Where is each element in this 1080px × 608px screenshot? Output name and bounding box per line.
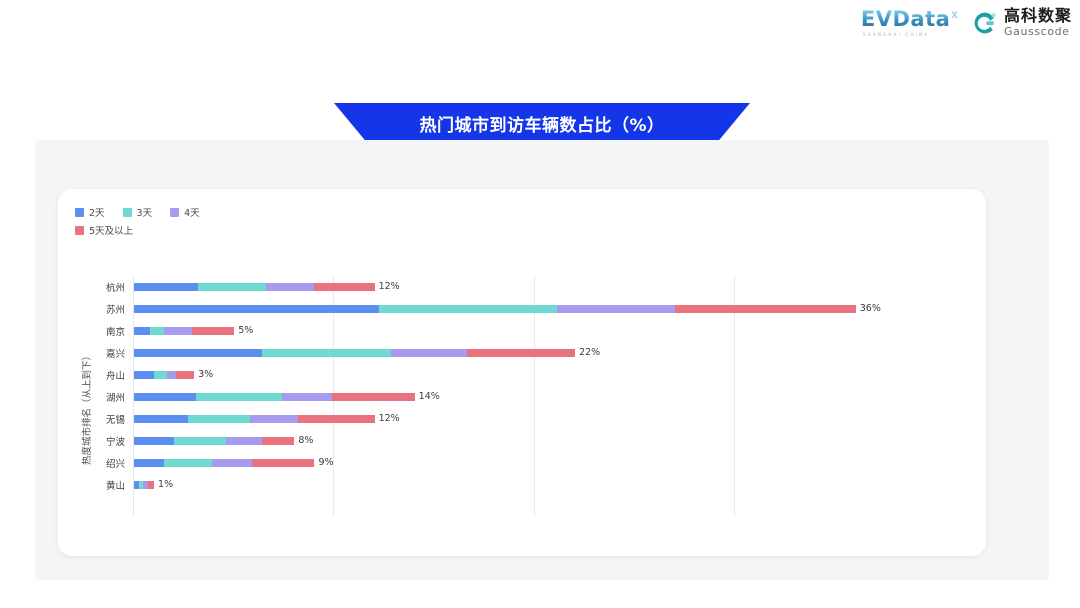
bar-segment[interactable]: [154, 371, 167, 379]
bar-value-label: 22%: [579, 348, 600, 358]
bar-segment[interactable]: [176, 371, 194, 379]
g-circle-icon: [972, 10, 998, 36]
legend-swatch-icon: [75, 208, 84, 217]
stacked-bar[interactable]: [134, 283, 375, 291]
bar-segment[interactable]: [252, 459, 314, 467]
bar-segment[interactable]: [134, 393, 196, 401]
bar-segment[interactable]: [164, 459, 212, 467]
category-label: 嘉兴: [77, 346, 125, 360]
bar-segment[interactable]: [379, 305, 557, 313]
gausscode-logo: 高科数聚 Gausscode: [972, 8, 1072, 37]
bar-segment[interactable]: [262, 349, 390, 357]
evdata-logo-text: EVData: [861, 9, 950, 30]
bar-value-label: 36%: [860, 304, 881, 314]
bar-row[interactable]: 无锡12%: [133, 408, 955, 430]
legend-item[interactable]: 3天: [123, 205, 153, 219]
stacked-bar[interactable]: [134, 481, 154, 489]
plot-area: 杭州12%苏州36%南京5%嘉兴22%舟山3%湖州14%无锡12%宁波8%绍兴9…: [133, 276, 955, 516]
chart-legend: 2天3天4天5天及以上: [75, 205, 405, 241]
bar-row[interactable]: 嘉兴22%: [133, 342, 955, 364]
bar-segment[interactable]: [134, 415, 188, 423]
stacked-bar[interactable]: [134, 327, 234, 335]
legend-label: 5天及以上: [89, 223, 133, 237]
gausscode-logo-en: Gausscode: [1004, 26, 1072, 37]
bar-value-label: 1%: [158, 480, 173, 490]
legend-label: 4天: [184, 205, 200, 219]
legend-item[interactable]: 4天: [170, 205, 200, 219]
bar-segment[interactable]: [467, 349, 575, 357]
bar-segment[interactable]: [282, 393, 332, 401]
stacked-bar[interactable]: [134, 393, 415, 401]
category-label: 舟山: [77, 368, 125, 382]
bar-segment[interactable]: [332, 393, 414, 401]
bar-row[interactable]: 绍兴9%: [133, 452, 955, 474]
bar-segment[interactable]: [557, 305, 675, 313]
category-label: 绍兴: [77, 456, 125, 470]
bar-segment[interactable]: [150, 327, 164, 335]
bar-value-label: 14%: [419, 392, 440, 402]
bar-segment[interactable]: [226, 437, 262, 445]
category-label: 杭州: [77, 280, 125, 294]
bar-segment[interactable]: [192, 327, 234, 335]
bar-segment[interactable]: [266, 283, 314, 291]
bar-segment[interactable]: [134, 283, 198, 291]
bar-value-label: 12%: [379, 414, 400, 424]
category-label: 无锡: [77, 412, 125, 426]
bar-row[interactable]: 宁波8%: [133, 430, 955, 452]
category-label: 苏州: [77, 302, 125, 316]
legend-swatch-icon: [75, 226, 84, 235]
bar-segment[interactable]: [391, 349, 467, 357]
bar-value-label: 5%: [238, 326, 253, 336]
category-label: 湖州: [77, 390, 125, 404]
evdata-logo-subtitle: SHANGHAI CHINA: [863, 32, 929, 37]
bar-segment[interactable]: [196, 393, 282, 401]
stacked-bar[interactable]: [134, 437, 294, 445]
stacked-bar[interactable]: [134, 371, 194, 379]
bar-row[interactable]: 湖州14%: [133, 386, 955, 408]
bar-segment[interactable]: [134, 459, 164, 467]
title-ribbon: 热门城市到访车辆数占比（%）: [334, 103, 750, 143]
category-label: 黄山: [77, 478, 125, 492]
bar-value-label: 9%: [318, 458, 333, 468]
legend-label: 2天: [89, 205, 105, 219]
legend-swatch-icon: [123, 208, 132, 217]
stacked-bar[interactable]: [134, 415, 375, 423]
category-label: 南京: [77, 324, 125, 338]
bar-segment[interactable]: [134, 371, 154, 379]
y-axis-title: 热度城市排名（从上到下）: [79, 318, 93, 498]
bar-segment[interactable]: [188, 415, 250, 423]
evdata-logo: EVData x SHANGHAI CHINA: [861, 9, 958, 37]
bar-segment[interactable]: [250, 415, 298, 423]
legend-label: 3天: [137, 205, 153, 219]
bar-segment[interactable]: [134, 327, 150, 335]
page-title: 热门城市到访车辆数占比（%）: [419, 111, 664, 136]
bar-segment[interactable]: [298, 415, 374, 423]
bar-segment[interactable]: [212, 459, 252, 467]
legend-swatch-icon: [170, 208, 179, 217]
legend-item[interactable]: 2天: [75, 205, 105, 219]
stacked-bar[interactable]: [134, 349, 575, 357]
bar-rows: 杭州12%苏州36%南京5%嘉兴22%舟山3%湖州14%无锡12%宁波8%绍兴9…: [133, 276, 955, 496]
brand-logo-bar: EVData x SHANGHAI CHINA 高科数聚 Gausscode: [861, 8, 1072, 37]
stacked-bar-chart: 热度城市排名（从上到下） 杭州12%苏州36%南京5%嘉兴22%舟山3%湖州14…: [75, 276, 955, 516]
stacked-bar[interactable]: [134, 305, 856, 313]
bar-segment[interactable]: [314, 283, 374, 291]
bar-row[interactable]: 舟山3%: [133, 364, 955, 386]
bar-value-label: 3%: [198, 370, 213, 380]
legend-item[interactable]: 5天及以上: [75, 223, 133, 237]
bar-segment[interactable]: [675, 305, 855, 313]
bar-segment[interactable]: [164, 327, 192, 335]
bar-value-label: 8%: [298, 436, 313, 446]
bar-row[interactable]: 苏州36%: [133, 298, 955, 320]
bar-segment[interactable]: [174, 437, 226, 445]
bar-segment[interactable]: [134, 349, 262, 357]
stacked-bar[interactable]: [134, 459, 314, 467]
bar-segment[interactable]: [134, 437, 174, 445]
bar-segment[interactable]: [262, 437, 294, 445]
bar-segment[interactable]: [148, 481, 154, 489]
bar-segment[interactable]: [167, 371, 176, 379]
gausscode-logo-cn: 高科数聚: [1004, 8, 1072, 24]
evdata-logo-mark: x: [951, 7, 958, 21]
bar-segment[interactable]: [198, 283, 266, 291]
bar-row[interactable]: 南京5%: [133, 320, 955, 342]
category-label: 宁波: [77, 434, 125, 448]
bar-row[interactable]: 黄山1%: [133, 474, 955, 496]
bar-segment[interactable]: [134, 305, 379, 313]
bar-value-label: 12%: [379, 282, 400, 292]
bar-row[interactable]: 杭州12%: [133, 276, 955, 298]
